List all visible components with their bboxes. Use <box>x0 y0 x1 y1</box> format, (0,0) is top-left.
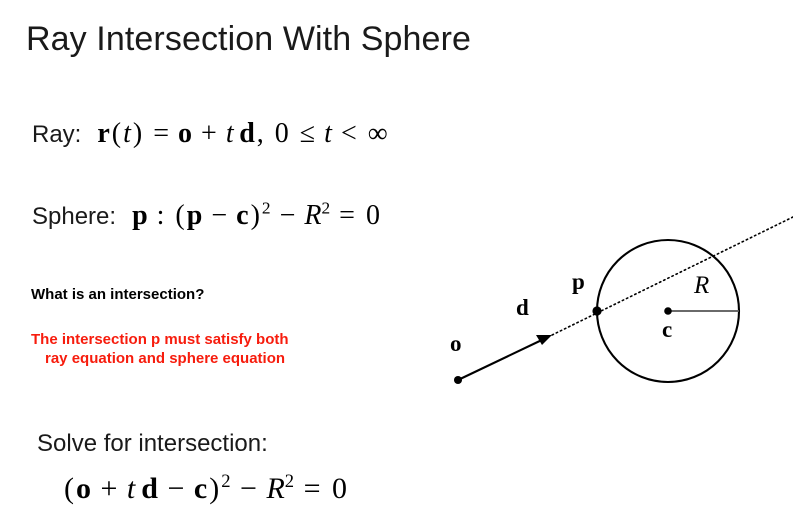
var-t: t <box>127 472 135 505</box>
plus-sign: + <box>199 118 219 149</box>
paren-close: ) <box>249 200 262 231</box>
ray-label: Ray: <box>32 121 81 149</box>
paren-open: ( <box>110 118 123 149</box>
intersection-label: p <box>572 269 585 295</box>
callout-line-2: ray equation and sphere equation <box>31 349 289 368</box>
minus-sign: − <box>165 472 186 505</box>
radius-symbol: R <box>304 200 321 231</box>
question-text: What is an intersection? <box>31 286 204 303</box>
paren-close: ) <box>131 118 144 149</box>
colon-sign: : <box>155 200 167 231</box>
intersection-point <box>592 306 601 315</box>
sphere-label: Sphere: <box>32 203 116 231</box>
paren-open: ( <box>62 472 76 505</box>
direction-arrow-shaft <box>458 338 546 380</box>
radius-label: R <box>694 272 709 300</box>
var-t: t <box>123 118 131 149</box>
sphere-equation-row: Sphere: p : (p − c)2 − R2 = 0 <box>32 200 382 232</box>
slide-canvas: Ray Intersection With Sphere Ray: r(t) =… <box>0 0 793 514</box>
comma: , <box>255 118 266 149</box>
page-title: Ray Intersection With Sphere <box>26 20 471 59</box>
equals-sign: = <box>151 118 171 149</box>
plus-sign: + <box>99 472 120 505</box>
zero-value: 0 <box>364 200 382 231</box>
minus-sign-2: − <box>278 200 298 231</box>
origin-label: o <box>450 331 462 357</box>
callout-line-1: The intersection p must satisfy both <box>31 331 289 348</box>
paren-open: ( <box>173 200 186 231</box>
paren-close: ) <box>207 472 221 505</box>
center-label: c <box>662 317 672 343</box>
var-t-3: t <box>324 118 332 149</box>
solve-equation-math: (o + t d − c)2 − R2 = 0 <box>62 472 349 506</box>
exponent-two: 2 <box>262 199 271 218</box>
diagram-svg <box>430 195 793 405</box>
lt-sign: < <box>339 118 359 149</box>
var-t-2: t <box>226 118 234 149</box>
direction-arrow-head <box>536 335 552 345</box>
minus-sign: − <box>209 200 229 231</box>
equals-sign: = <box>337 200 357 231</box>
origin-point <box>454 376 462 384</box>
infinity-symbol: ∞ <box>366 118 390 149</box>
radius-symbol: R <box>266 472 284 505</box>
ray-sphere-diagram: o d p c R <box>430 195 793 405</box>
vector-p: p <box>132 200 148 231</box>
leq-sign: ≤ <box>298 118 317 149</box>
ray-equation-row: Ray: r(t) = o + t d, 0 ≤ t < ∞ <box>32 118 390 150</box>
sphere-equation-math: p : (p − c)2 − R2 = 0 <box>132 200 382 232</box>
vector-d: d <box>141 472 158 505</box>
vector-c: c <box>194 472 207 505</box>
zero-value: 0 <box>330 472 349 505</box>
ray-equation-math: r(t) = o + t d, 0 ≤ t < ∞ <box>97 118 389 150</box>
exponent-two-b: 2 <box>321 199 330 218</box>
exponent-two: 2 <box>221 471 230 492</box>
zero-value: 0 <box>273 118 291 149</box>
vector-o: o <box>76 472 91 505</box>
direction-label: d <box>516 295 529 321</box>
center-point <box>664 307 672 315</box>
vector-p-2: p <box>187 200 203 231</box>
minus-sign-2: − <box>238 472 259 505</box>
vector-d: d <box>239 118 255 149</box>
solve-label: Solve for intersection: <box>37 430 268 458</box>
exponent-two-b: 2 <box>285 471 294 492</box>
callout-text: The intersection p must satisfy both ray… <box>31 330 289 368</box>
vector-c: c <box>236 200 248 231</box>
equals-sign: = <box>302 472 323 505</box>
vector-r: r <box>97 118 109 149</box>
vector-o: o <box>178 118 192 149</box>
